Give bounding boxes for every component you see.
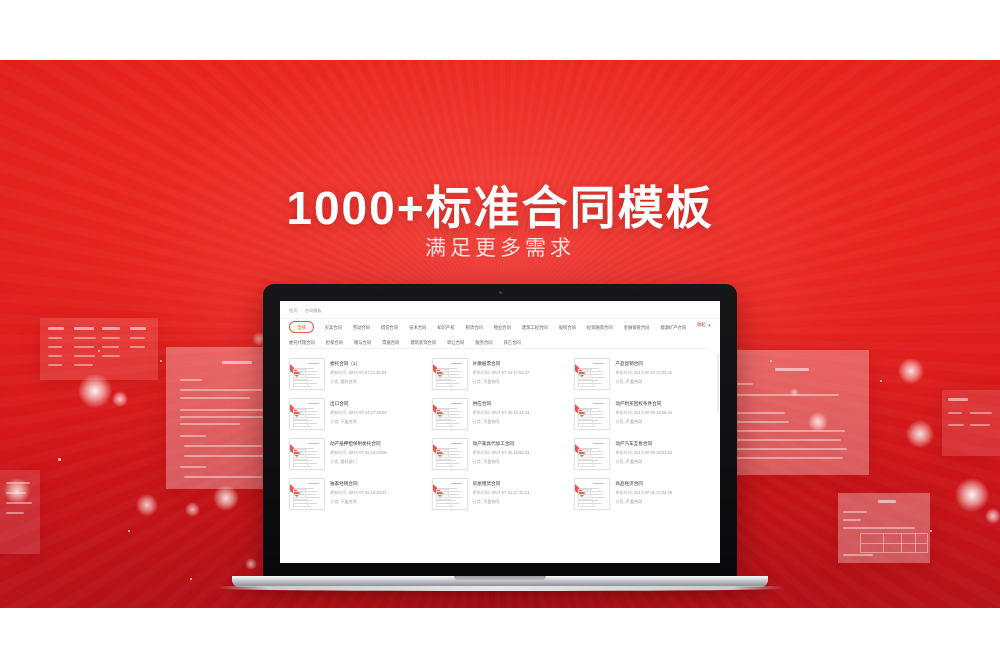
template-date: 更新时间: 2017-07-25 15:02:06 (330, 448, 426, 457)
date-label: 更新时间: (615, 410, 633, 415)
category-tab-row: 全部买卖合同劳动合同借贷合同技术合同知识产权租赁合同物业合同建筑工程合同股权合同… (289, 321, 711, 351)
template-type: 分类: 不盖合同 (330, 417, 426, 426)
category-tab[interactable]: 物业合同 (494, 322, 511, 332)
scrollbar-thumb[interactable] (717, 353, 719, 413)
template-type: 分类: 不盖合同 (615, 377, 711, 386)
template-type: 分类: 不盖合同 (330, 497, 426, 506)
template-card[interactable]: 补缴股票合同更新时间: 2017-07-24 17:53:47分类: 不盖合同 (432, 353, 571, 393)
category-tab[interactable]: 服务合同 (475, 337, 492, 347)
date-label: 更新时间: (473, 450, 491, 455)
type-label: 分类: (615, 499, 624, 504)
template-title[interactable]: 动产抵押担保附委托合同 (330, 439, 426, 448)
template-title[interactable]: 商品经济合同 (615, 479, 711, 488)
template-date: 更新时间: 2017-07-24 17:33:42 (615, 368, 711, 377)
bokeh (985, 508, 1000, 524)
red-banner: 1000+标准合同模板 满足更多需求 首页 › 合同模板 全部买卖合同劳动合 (0, 60, 1000, 608)
spark-dot (930, 530, 932, 532)
spark-dot (160, 360, 162, 362)
template-title[interactable]: 动产汽车互易合同 (615, 439, 711, 448)
date-value: 2017-07-25 16:24:43 (491, 410, 529, 415)
template-card[interactable]: 动产家具代加工合同更新时间: 2017-07-25 16:50:23分类: 不盖… (432, 433, 571, 473)
header-divider (280, 318, 720, 319)
template-title[interactable]: 动产附买回权条件合同 (615, 399, 711, 408)
template-card[interactable]: 委托合同（1）更新时间: 2017-07-07 11:25:54分类: 委托合同 (289, 353, 428, 393)
laptop-mockup: 首页 › 合同模板 全部买卖合同劳动合同借贷合同技术合同知识产权租赁合同物业合同… (263, 284, 737, 594)
template-title[interactable]: 动产家具代加工合同 (473, 439, 569, 448)
template-type: 分类: 不盖合同 (615, 417, 711, 426)
template-meta: 房屋租赁合同更新时间: 2017-07-31 17:32:13分类: 不盖合同 (473, 478, 569, 508)
laptop-screen: 首页 › 合同模板 全部买卖合同劳动合同借贷合同技术合同知识产权租赁合同物业合同… (280, 301, 720, 563)
laptop-foot (216, 586, 784, 591)
template-date: 更新时间: 2017-07-25 18:25:44 (615, 408, 711, 417)
type-value: 不盖合同 (626, 379, 642, 384)
chevron-up-icon: ▲ (708, 323, 711, 327)
template-thumbnail (574, 358, 610, 390)
template-card-grid: 委托合同（1）更新时间: 2017-07-07 11:25:54分类: 委托合同… (289, 353, 713, 513)
category-tab[interactable]: 劳动合同 (353, 322, 370, 332)
type-value: 委托合同 (340, 379, 356, 384)
contract-template-app: 首页 › 合同模板 全部买卖合同劳动合同借贷合同技术合同知识产权租赁合同物业合同… (280, 301, 720, 563)
date-value: 2017-07-25 16:33:51 (349, 490, 387, 495)
type-label: 分类: (473, 459, 482, 464)
category-tab[interactable]: 全部 (289, 321, 314, 333)
type-value: 不盖合同 (340, 419, 356, 424)
type-value: 委托部门 (340, 459, 356, 464)
template-date: 更新时间: 2017-07-31 17:34:29 (615, 488, 711, 497)
laptop-lid: 首页 › 合同模板 全部买卖合同劳动合同借贷合同技术合同知识产权租赁合同物业合同… (263, 284, 737, 578)
template-thumbnail (432, 398, 468, 430)
spark-dot (190, 578, 192, 580)
category-tab[interactable]: 知识产权 (437, 322, 454, 332)
date-value: 2017-07-24 17:25:04 (349, 410, 387, 415)
bg-doc-panel-right (942, 390, 1000, 456)
breadcrumb-current: 合同模板 (305, 308, 322, 314)
bg-doc-contract-right (723, 350, 869, 475)
template-title[interactable]: 房屋租赁合同 (473, 479, 569, 488)
bokeh (112, 391, 128, 407)
type-value: 不盖合同 (340, 499, 356, 504)
category-tab[interactable]: 票据合同 (382, 337, 399, 347)
template-title[interactable]: 出口合同 (330, 399, 426, 408)
type-label: 分类: (330, 379, 339, 384)
type-value: 不盖合同 (626, 459, 642, 464)
template-title[interactable]: 补缴股票合同 (473, 359, 569, 368)
date-value: 2017-07-25 16:50:23 (491, 450, 529, 455)
bg-doc-table-right (838, 493, 930, 563)
template-thumbnail (289, 398, 325, 430)
template-card[interactable]: 房屋租赁合同更新时间: 2017-07-31 17:32:13分类: 不盖合同 (432, 473, 571, 513)
date-value: 2017-07-25 18:25:44 (634, 410, 672, 415)
template-meta: 供应合同更新时间: 2017-07-25 16:24:43分类: 不盖合同 (473, 398, 569, 428)
date-value: 2017-07-31 17:34:29 (634, 490, 672, 495)
template-type: 分类: 不盖合同 (473, 417, 569, 426)
template-thumbnail (289, 358, 325, 390)
template-card[interactable]: 动产附买回权条件合同更新时间: 2017-07-25 18:25:44分类: 不… (574, 393, 713, 433)
category-tab[interactable]: 赠与合同 (354, 337, 371, 347)
template-thumbnail (574, 438, 610, 470)
template-meta: 独家经销合同更新时间: 2017-07-25 16:33:51分类: 不盖合同 (330, 478, 426, 508)
category-tab[interactable]: 建筑装饰合同 (410, 337, 436, 347)
filter-divider (289, 348, 711, 349)
template-card[interactable]: 独家经销合同更新时间: 2017-07-25 16:33:51分类: 不盖合同 (289, 473, 428, 513)
template-card[interactable]: 商品经济合同更新时间: 2017-07-31 17:34:29分类: 不盖合同 (574, 473, 713, 513)
template-type: 分类: 不盖合同 (473, 377, 569, 386)
bg-doc-small-left (0, 470, 40, 554)
category-tab[interactable]: 技术合同 (409, 322, 426, 332)
category-tab[interactable]: 建筑工程合同 (522, 322, 548, 332)
type-label: 分类: (473, 379, 482, 384)
date-value: 2017-07-24 17:53:47 (491, 370, 529, 375)
date-label: 更新时间: (473, 370, 491, 375)
page-subtitle: 满足更多需求 (0, 232, 1000, 262)
template-type: 分类: 委托合同 (330, 377, 426, 386)
template-meta: 动产抵押担保附委托合同更新时间: 2017-07-25 15:02:06分类: … (330, 438, 426, 468)
template-thumbnail (432, 358, 468, 390)
template-type: 分类: 不盖合同 (473, 457, 569, 466)
template-thumbnail (289, 438, 325, 470)
date-label: 更新时间: (330, 490, 348, 495)
category-tab[interactable]: 金融保管合同 (624, 322, 650, 332)
date-label: 更新时间: (330, 410, 348, 415)
webcam-icon (499, 291, 502, 294)
breadcrumb-separator: › (300, 309, 301, 314)
type-value: 不盖合同 (626, 419, 642, 424)
breadcrumb: 首页 › 合同模板 (289, 308, 322, 314)
category-tab[interactable]: 转让合同 (447, 337, 464, 347)
template-thumbnail (432, 438, 468, 470)
bokeh (955, 478, 989, 512)
page-title: 1000+标准合同模板 (0, 172, 1000, 238)
bokeh (136, 494, 158, 516)
date-label: 更新时间: (615, 490, 633, 495)
category-tab[interactable]: 能源矿产合同 (660, 322, 686, 332)
collapse-toggle[interactable]: 收起▲ (697, 322, 711, 328)
bokeh (185, 502, 200, 517)
template-type: 分类: 不盖合同 (473, 497, 569, 506)
date-value: 2017-07-31 17:32:13 (491, 490, 529, 495)
bokeh (245, 558, 257, 570)
template-date: 更新时间: 2017-07-24 17:25:04 (330, 408, 426, 417)
template-meta: 委托合同（1）更新时间: 2017-07-07 11:25:54分类: 委托合同 (330, 358, 426, 388)
bokeh (906, 420, 934, 448)
date-label: 更新时间: (615, 370, 633, 375)
category-filter: 全部买卖合同劳动合同借贷合同技术合同知识产权租赁合同物业合同建筑工程合同股权合同… (289, 321, 711, 351)
type-label: 分类: (330, 499, 339, 504)
date-label: 更新时间: (330, 370, 348, 375)
type-value: 不盖合同 (483, 499, 499, 504)
category-tab[interactable]: 股权合同 (559, 322, 576, 332)
date-value: 2017-07-24 17:33:42 (634, 370, 672, 375)
type-label: 分类: (473, 419, 482, 424)
category-tab[interactable]: 其它合同 (504, 337, 521, 347)
date-value: 2017-07-07 11:25:54 (349, 370, 387, 375)
template-date: 更新时间: 2017-07-31 17:32:13 (473, 488, 569, 497)
template-date: 更新时间: 2017-07-24 17:53:47 (473, 368, 569, 377)
template-thumbnail (289, 478, 325, 510)
date-value: 2017-07-25 15:02:06 (349, 450, 387, 455)
collapse-label: 收起 (697, 322, 706, 327)
template-title[interactable]: 委托合同（1） (330, 359, 426, 368)
bg-doc-contract-left (166, 347, 278, 489)
template-meta: 商品经济合同更新时间: 2017-07-31 17:34:29分类: 不盖合同 (615, 478, 711, 508)
type-label: 分类: (473, 499, 482, 504)
poster-stage: 1000+标准合同模板 满足更多需求 首页 › 合同模板 全部买卖合同劳动合 (0, 0, 1000, 666)
type-label: 分类: (330, 419, 339, 424)
template-title[interactable]: 产品促销合同 (615, 359, 711, 368)
template-type: 分类: 委托部门 (330, 457, 426, 466)
spark-dot (58, 458, 61, 461)
template-title[interactable]: 独家经销合同 (330, 479, 426, 488)
type-value: 不盖合同 (483, 419, 499, 424)
bokeh (898, 358, 924, 384)
template-thumbnail (574, 398, 610, 430)
template-card[interactable]: 供应合同更新时间: 2017-07-25 16:24:43分类: 不盖合同 (432, 393, 571, 433)
template-date: 更新时间: 2017-07-25 16:33:51 (330, 488, 426, 497)
spark-dot (880, 380, 882, 382)
date-label: 更新时间: (615, 450, 633, 455)
bg-doc-table-left (40, 318, 158, 380)
date-label: 更新时间: (473, 490, 491, 495)
type-label: 分类: (615, 459, 624, 464)
date-value: 2017-07-25 18:01:54 (634, 450, 672, 455)
type-label: 分类: (615, 379, 624, 384)
type-label: 分类: (330, 459, 339, 464)
category-tab[interactable]: 借贷合同 (381, 322, 398, 332)
template-type: 分类: 不盖合同 (615, 497, 711, 506)
category-tab[interactable]: 买卖合同 (325, 322, 342, 332)
category-tab[interactable]: 委托代理合同 (289, 337, 315, 347)
template-meta: 动产家具代加工合同更新时间: 2017-07-25 16:50:23分类: 不盖… (473, 438, 569, 468)
template-card[interactable]: 动产汽车互易合同更新时间: 2017-07-25 18:01:54分类: 不盖合… (574, 433, 713, 473)
template-type: 分类: 不盖合同 (615, 457, 711, 466)
type-value: 不盖合同 (483, 379, 499, 384)
date-label: 更新时间: (473, 410, 491, 415)
template-date: 更新时间: 2017-07-07 11:25:54 (330, 368, 426, 377)
category-tab[interactable]: 担保合同 (326, 337, 343, 347)
date-label: 更新时间: (330, 450, 348, 455)
template-meta: 产品促销合同更新时间: 2017-07-24 17:33:42分类: 不盖合同 (615, 358, 711, 388)
template-card[interactable]: 产品促销合同更新时间: 2017-07-24 17:33:42分类: 不盖合同 (574, 353, 713, 393)
spark-dot (128, 530, 130, 532)
template-meta: 出口合同更新时间: 2017-07-24 17:25:04分类: 不盖合同 (330, 398, 426, 428)
type-label: 分类: (615, 419, 624, 424)
type-value: 不盖合同 (483, 459, 499, 464)
type-value: 不盖合同 (626, 499, 642, 504)
template-thumbnail (432, 478, 468, 510)
template-meta: 补缴股票合同更新时间: 2017-07-24 17:53:47分类: 不盖合同 (473, 358, 569, 388)
template-meta: 动产汽车互易合同更新时间: 2017-07-25 18:01:54分类: 不盖合… (615, 438, 711, 468)
template-title[interactable]: 供应合同 (473, 399, 569, 408)
category-tab[interactable]: 租赁合同 (466, 322, 483, 332)
category-tab[interactable]: 投资融资合同 (587, 322, 613, 332)
template-thumbnail (574, 478, 610, 510)
template-meta: 动产附买回权条件合同更新时间: 2017-07-25 18:25:44分类: 不… (615, 398, 711, 428)
template-date: 更新时间: 2017-07-25 16:50:23 (473, 448, 569, 457)
breadcrumb-home[interactable]: 首页 (289, 308, 297, 314)
template-card[interactable]: 出口合同更新时间: 2017-07-24 17:25:04分类: 不盖合同 (289, 393, 428, 433)
template-card[interactable]: 动产抵押担保附委托合同更新时间: 2017-07-25 15:02:06分类: … (289, 433, 428, 473)
template-date: 更新时间: 2017-07-25 18:01:54 (615, 448, 711, 457)
template-date: 更新时间: 2017-07-25 16:24:43 (473, 408, 569, 417)
